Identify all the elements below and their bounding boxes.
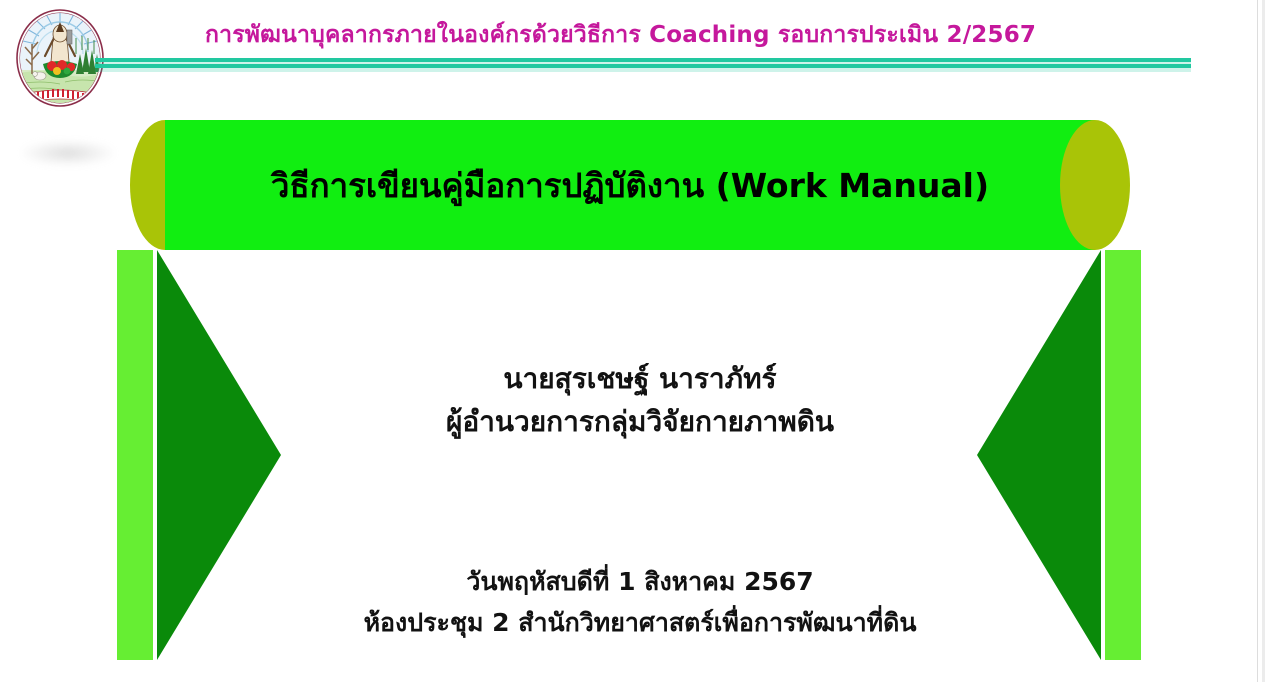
left-green-bar: [117, 250, 153, 660]
right-green-bar: [1105, 250, 1141, 660]
speaker-name: นายสุรเชษฐ์ นาราภัทร์: [280, 358, 1000, 401]
slide-header: การพัฒนาบุคลากรภายในองค์กรด้วยวิธีการ Co…: [0, 0, 1280, 110]
event-date: วันพฤหัสบดีที่ 1 สิงหาคม 2567: [220, 562, 1060, 603]
title-banner: วิธีการเขียนคู่มือการปฏิบัติงาน (Work Ma…: [130, 120, 1130, 250]
presentation-slide: การพัฒนาบุคลากรภายในองค์กรด้วยวิธีการ Co…: [0, 0, 1280, 682]
speaker-block: นายสุรเชษฐ์ นาราภัทร์ ผู้อำนวยการกลุ่มวิ…: [280, 358, 1000, 443]
background-smudge-artifact: [22, 140, 114, 166]
slide-title: วิธีการเขียนคู่มือการปฏิบัติงาน (Work Ma…: [130, 120, 1130, 250]
event-venue: ห้องประชุม 2 สำนักวิทยาศาสตร์เพื่อการพัฒ…: [220, 603, 1060, 644]
header-divider-rule: [95, 58, 1191, 72]
header-title: การพัฒนาบุคลากรภายในองค์กรด้วยวิธีการ Co…: [205, 17, 1065, 53]
event-info-block: วันพฤหัสบดีที่ 1 สิงหาคม 2567 ห้องประชุม…: [220, 562, 1060, 643]
speaker-position: ผู้อำนวยการกลุ่มวิจัยกายภาพดิน: [280, 401, 1000, 444]
